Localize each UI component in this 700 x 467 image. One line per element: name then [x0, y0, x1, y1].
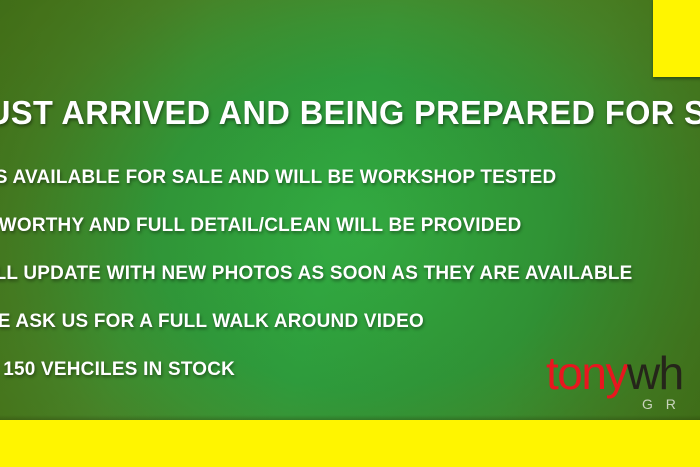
body-line-2: ADWORTHY AND FULL DETAIL/CLEAN WILL BE P… — [0, 213, 700, 261]
slide-canvas: UST ARRIVED AND BEING PREPARED FOR SA S … — [0, 0, 700, 467]
yellow-corner-block — [653, 0, 700, 77]
body-line-1: S IS AVAILABLE FOR SALE AND WILL BE WORK… — [0, 165, 700, 213]
brand-logo-white: wh — [627, 347, 683, 399]
brand-logo-subtitle: G R — [642, 397, 700, 412]
brand-logo-wordmark: tonywh — [546, 350, 700, 396]
page-title: UST ARRIVED AND BEING PREPARED FOR SA — [0, 93, 700, 133]
body-line-3: WILL UPDATE WITH NEW PHOTOS AS SOON AS T… — [0, 261, 700, 309]
brand-logo: tonywh G R — [546, 350, 700, 412]
brand-logo-tony: tony — [546, 347, 627, 399]
yellow-bottom-band — [0, 420, 700, 467]
